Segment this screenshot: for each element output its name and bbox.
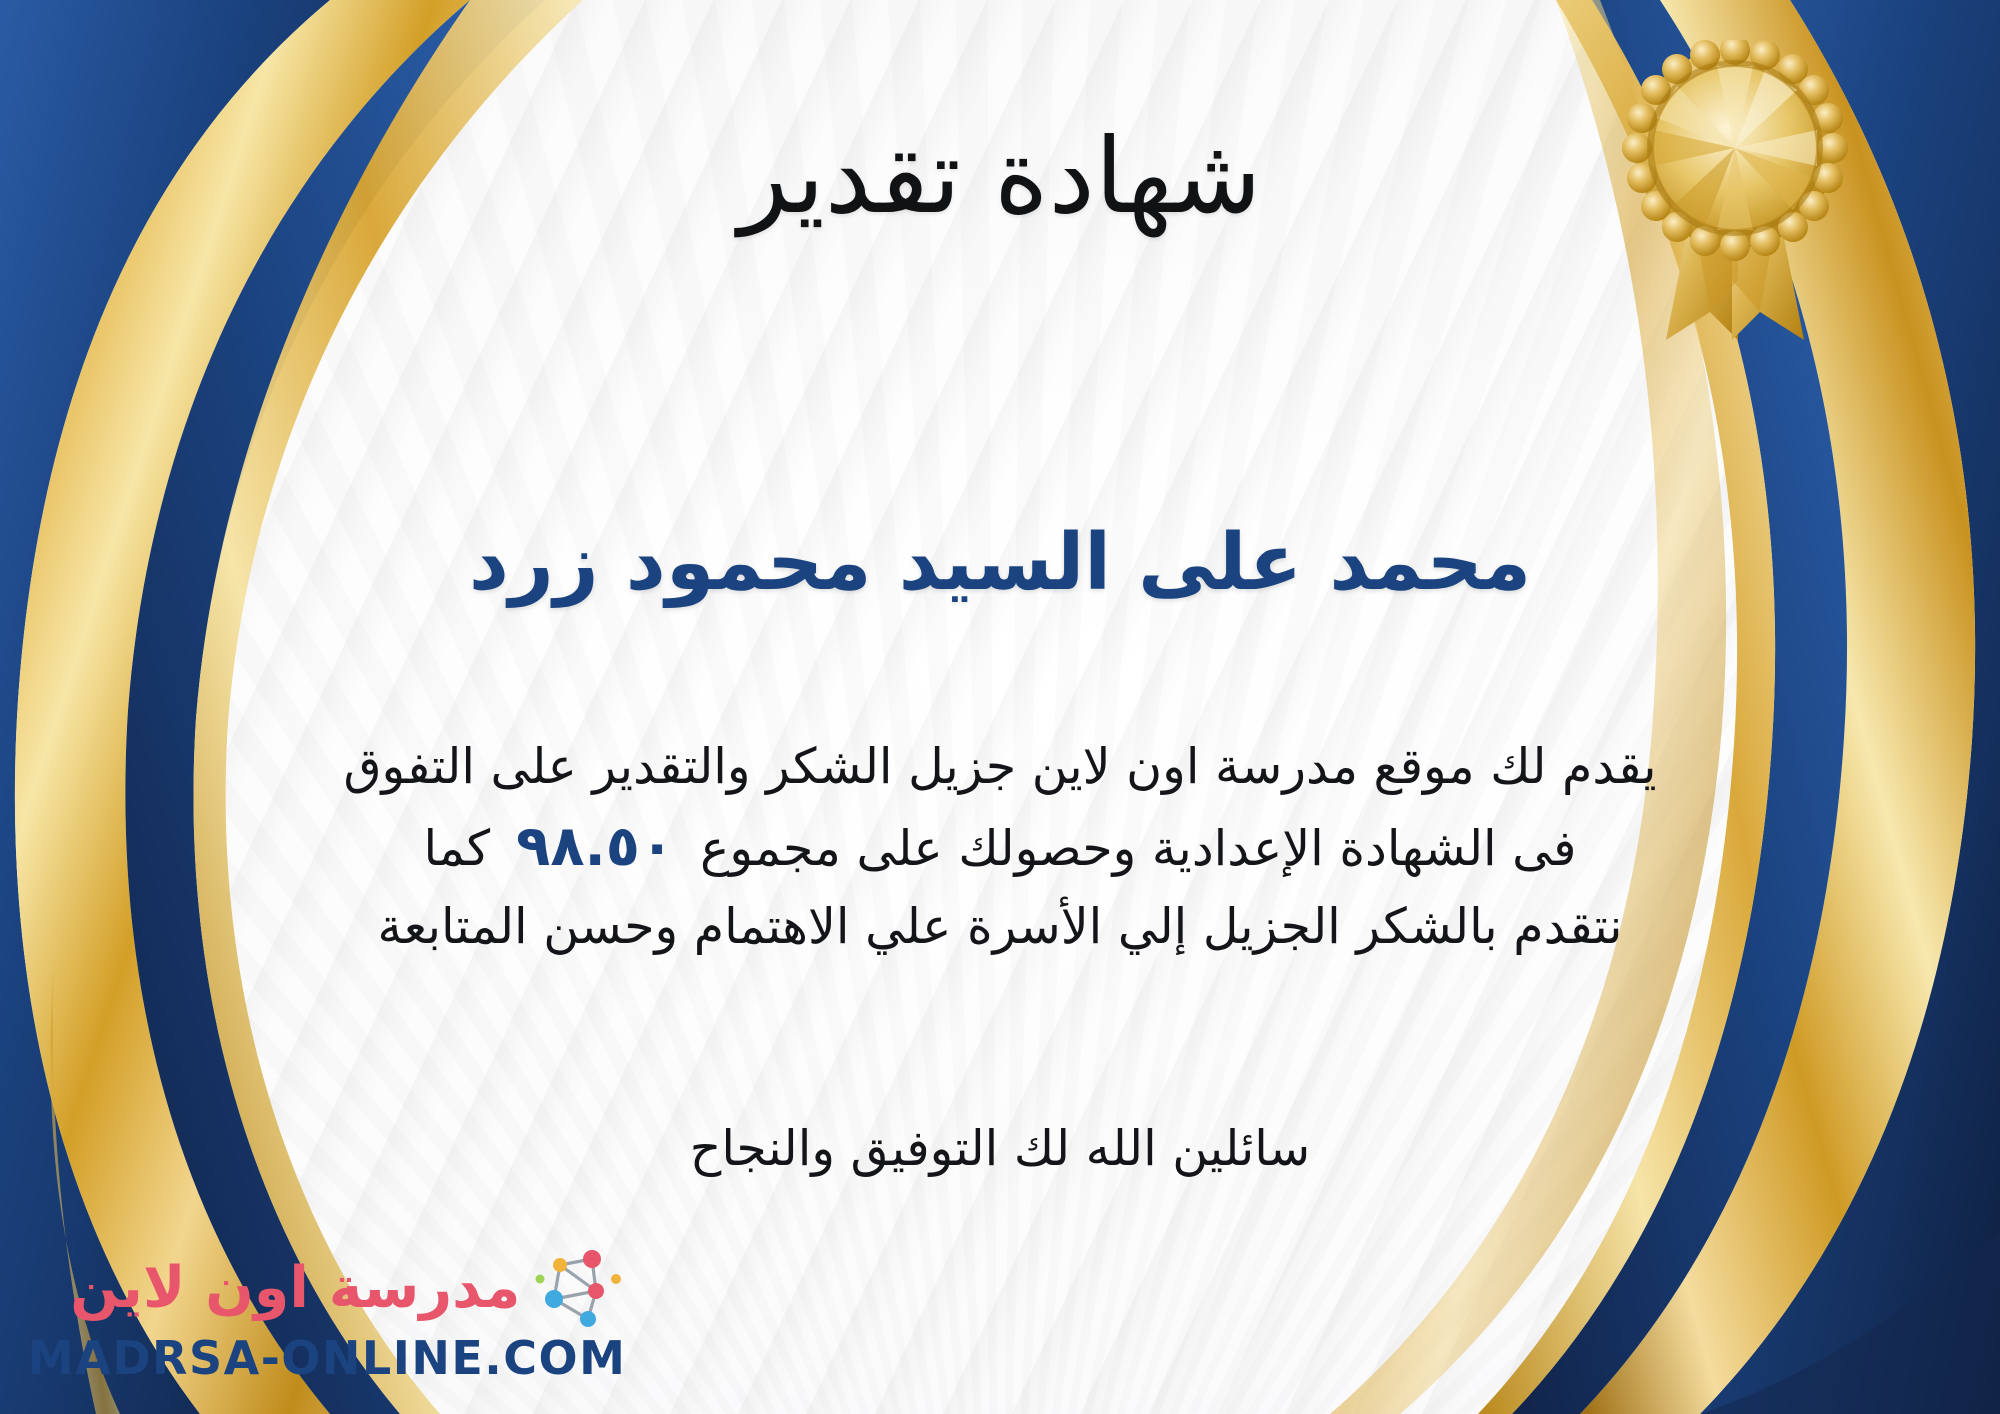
grade-value: ٩٨.٥٠ [490, 814, 700, 879]
body-line-2-prefix: فى الشهادة الإعدادية وحصولك على مجموع [700, 820, 1576, 877]
body-line-2-suffix: كما [424, 820, 491, 877]
recipient-name: محمد على السيد محمود زرد [0, 520, 2000, 607]
logo-row: مدرسة اون لاين [28, 1245, 626, 1331]
gold-rosette-seal [1610, 40, 1860, 360]
network-molecule-icon [530, 1245, 626, 1331]
certificate-page: شهادة تقدير محمد على السيد محمود زرد يقد… [0, 0, 2000, 1414]
body-line-3: نتقدم بالشكر الجزيل إلي الأسرة علي الاهت… [120, 890, 1880, 964]
logo-website-url: MADRSA-ONLINE.COM [28, 1333, 626, 1384]
closing-line: سائلين الله لك التوفيق والنجاح [0, 1115, 2000, 1184]
brand-logo[interactable]: مدرسة اون لاين MADRSA-ONLINE.COM [28, 1245, 626, 1384]
body-line-2: فى الشهادة الإعدادية وحصولك على مجموع٩٨.… [120, 804, 1880, 889]
logo-arabic-name: مدرسة اون لاين [70, 1260, 520, 1317]
certificate-body: يقدم لك موقع مدرسة اون لاين جزيل الشكر و… [120, 730, 1880, 964]
body-line-1: يقدم لك موقع مدرسة اون لاين جزيل الشكر و… [120, 730, 1880, 804]
